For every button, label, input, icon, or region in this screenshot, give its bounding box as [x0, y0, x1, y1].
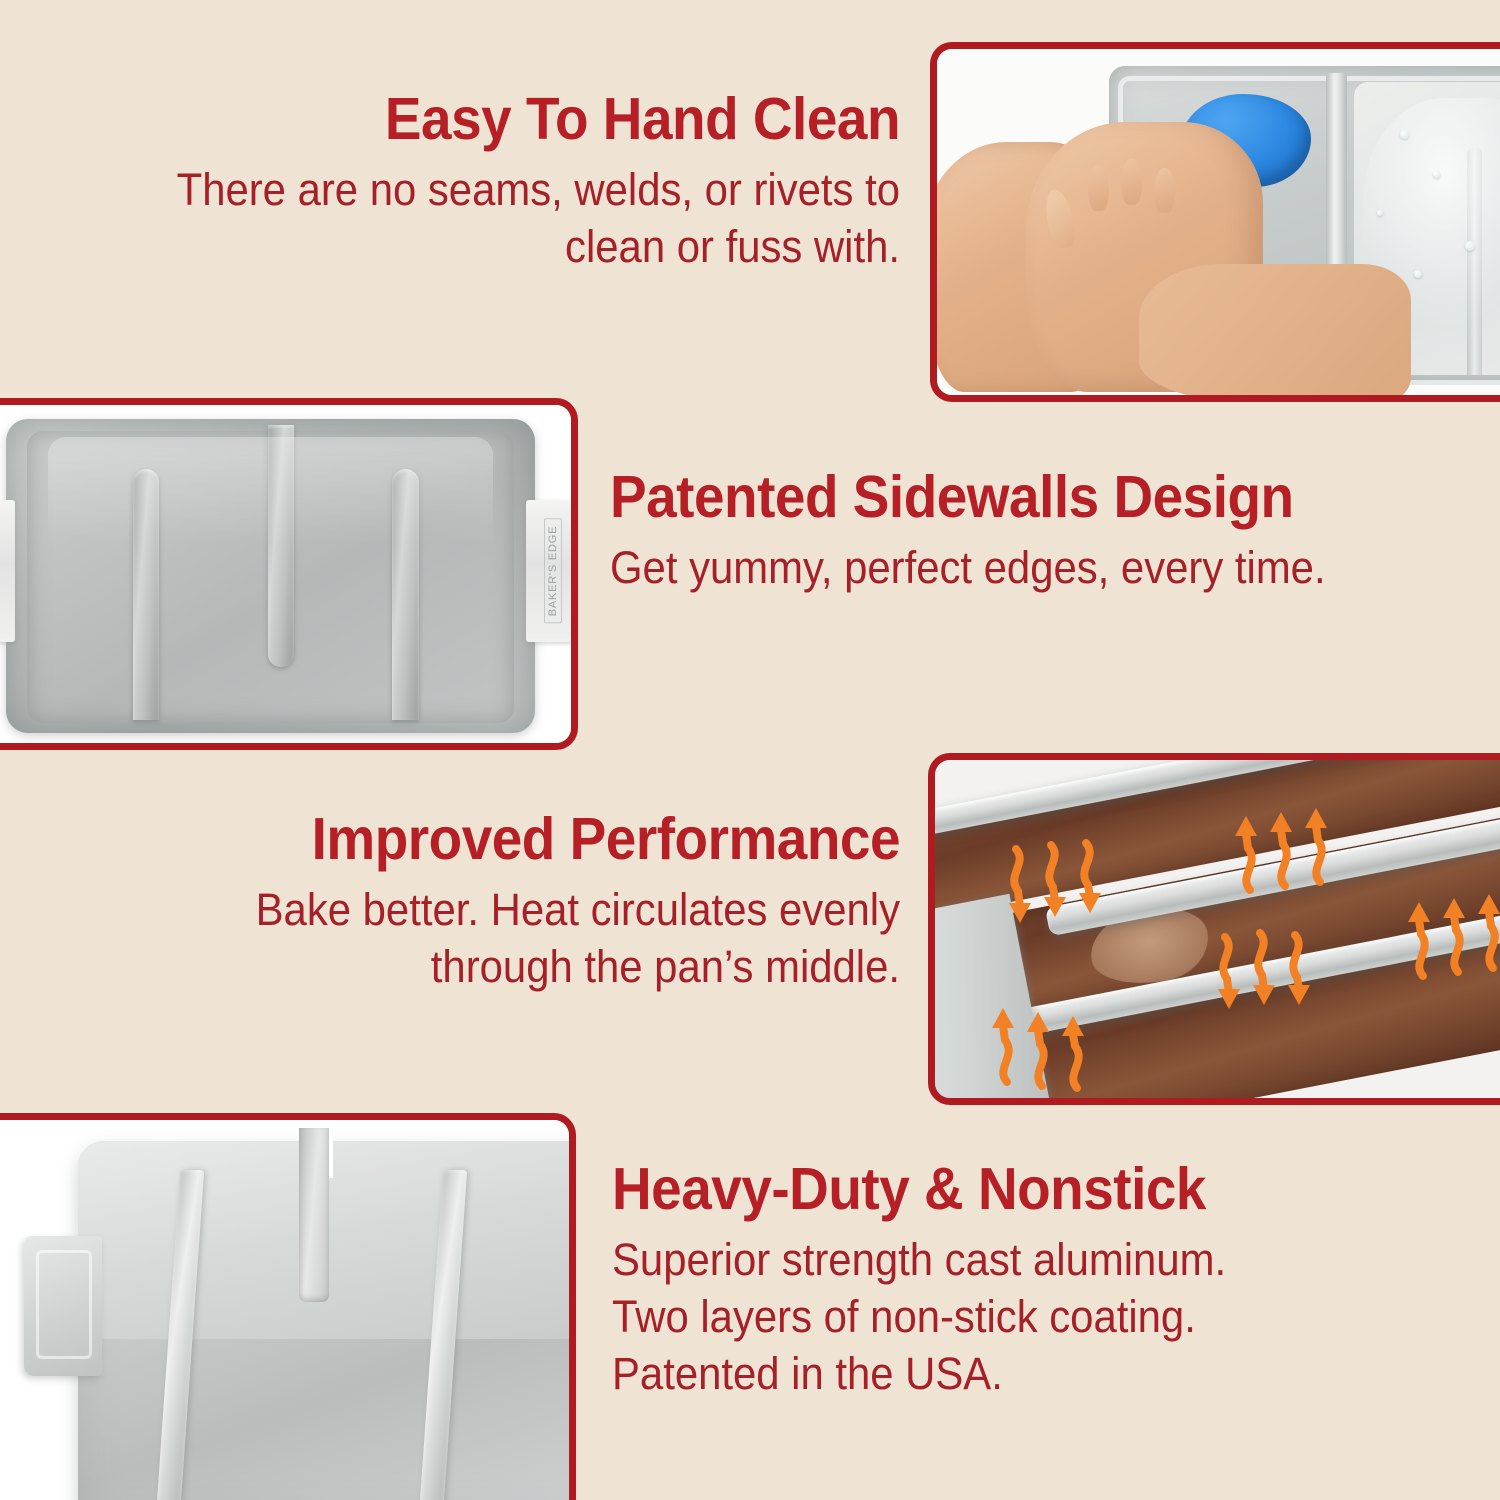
heat-arrow-cluster-up-center — [1238, 784, 1358, 899]
feature-title-improved-performance: Improved Performance — [147, 808, 900, 871]
feature-description-easy-to-hand-clean: There are no seams, welds, or rivets to … — [119, 161, 900, 275]
heat-arrows-icon — [1411, 868, 1500, 983]
heat-arrows-icon — [995, 976, 1115, 1091]
brand-label: BAKER'S EDGE — [544, 518, 562, 623]
feature-description-patented-sidewalls-design: Get yummy, perfect edges, every time. — [610, 539, 1345, 596]
infographic-canvas: Easy To Hand Clean There are no seams, w… — [0, 0, 1500, 1500]
feature-title-easy-to-hand-clean: Easy To Hand Clean — [119, 88, 900, 151]
feature-title-heavy-duty-and-nonstick: Heavy-Duty & Nonstick — [612, 1158, 1347, 1221]
finger — [1088, 165, 1109, 211]
feature-block-improved-performance: Improved Performance Bake better. Heat c… — [90, 808, 900, 995]
feature-block-patented-sidewalls-design: Patented Sidewalls Design Get yummy, per… — [610, 466, 1400, 596]
sidewall-left — [133, 469, 159, 720]
pan-handle-tab-left: BAKER'S EDGE — [0, 500, 15, 642]
feature-description-line-2: Two layers of non-stick coating. — [612, 1288, 1347, 1345]
pan-top-view-content: BAKER'S EDGE BAKER'S EDGE — [0, 405, 571, 743]
pan-center-notch — [299, 1128, 329, 1301]
heat-arrows-icon — [1215, 929, 1335, 1044]
sidewall-center — [268, 425, 294, 667]
heat-arrow-cluster-up-left — [995, 976, 1115, 1091]
heat-arrows-icon — [1238, 784, 1358, 899]
pan-top-view-photo: BAKER'S EDGE BAKER'S EDGE — [0, 398, 578, 750]
pan-underside-photo — [0, 1113, 576, 1500]
finger — [1121, 159, 1142, 205]
thumb — [1041, 187, 1079, 250]
heat-arrow-cluster-down-left — [1006, 841, 1126, 956]
hand-washing-pan-photo — [930, 42, 1500, 402]
wrist-and-forearm — [1139, 264, 1412, 395]
feature-description-improved-performance: Bake better. Heat circulates evenly thro… — [147, 881, 900, 995]
heat-arrows-icon — [1006, 841, 1126, 956]
feature-description-line-3: Patented in the USA. — [612, 1345, 1347, 1402]
feature-description-line-1: Superior strength cast aluminum. — [612, 1231, 1347, 1288]
finger — [1154, 168, 1175, 214]
pan-underside-content — [0, 1120, 569, 1500]
feature-block-heavy-duty-and-nonstick: Heavy-Duty & Nonstick Superior strength … — [612, 1158, 1402, 1402]
feature-title-patented-sidewalls-design: Patented Sidewalls Design — [610, 466, 1345, 529]
cast-aluminum-pan — [6, 419, 535, 733]
sidewall-right — [392, 469, 418, 720]
pan-handle-inset — [36, 1250, 92, 1360]
heat-circulation-content — [935, 760, 1500, 1098]
pan-handle — [24, 1236, 102, 1376]
hand-washing-photo-content — [937, 49, 1500, 395]
water-droplet — [1377, 210, 1383, 216]
heat-circulation-photo — [928, 753, 1500, 1105]
pan-handle-tab-right: BAKER'S EDGE — [526, 500, 571, 642]
feature-block-easy-to-hand-clean: Easy To Hand Clean There are no seams, w… — [60, 88, 900, 275]
heat-arrow-cluster-up-right — [1411, 868, 1500, 983]
heat-arrow-cluster-down-center — [1215, 929, 1335, 1044]
